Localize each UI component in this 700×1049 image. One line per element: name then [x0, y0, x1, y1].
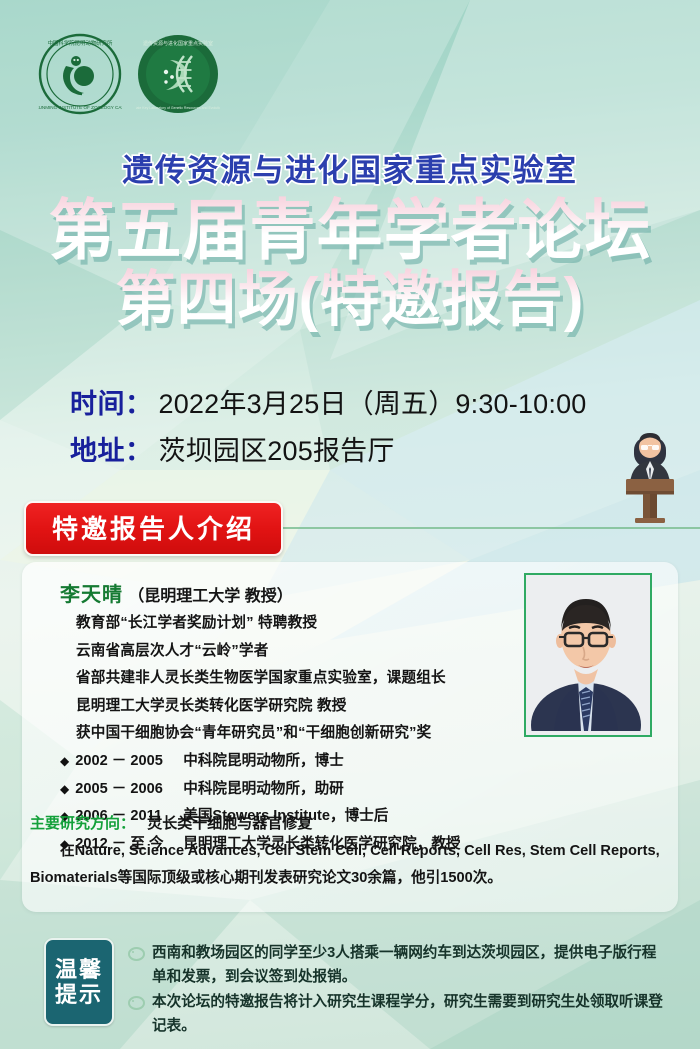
tip-badge-line-2: 提示 — [55, 982, 103, 1007]
research-direction-value: 灵长类干细胞与器官修复 — [147, 815, 312, 832]
speaker-portrait-photo — [524, 573, 652, 737]
svg-text:KUNMING INSTITUTE OF ZOOLOGY C: KUNMING INSTITUTE OF ZOOLOGY CAS — [38, 105, 122, 110]
credential-item: 获中国干细胞协会“青年研究员”和“干细胞创新研究”奖 — [60, 726, 530, 741]
place-label: 地址： — [70, 429, 153, 468]
diamond-bullet-icon: ◆ — [60, 783, 69, 795]
time-label: 时间： — [70, 382, 153, 421]
state-key-lab-logo: 遗传资源与进化国家重点实验室 State Key Laboratory of G… — [136, 32, 220, 116]
timeline-years: 2002 － 2005 — [75, 754, 183, 769]
kunming-institute-of-zoology-logo: 中国科学院昆明动物研究所 KUNMING INSTITUTE OF ZOOLOG… — [38, 32, 122, 116]
publications-paragraph: 在Nature, Science Advances, Cell Stem Cel… — [30, 838, 670, 891]
timeline-years: 2005 － 2006 — [75, 782, 183, 797]
section-banner-label: 特邀报告人介绍 — [24, 501, 283, 556]
svg-text:State Key Laboratory of Geneti: State Key Laboratory of Genetic Resource… — [136, 106, 220, 110]
credential-item: 教育部“长江学者奖励计划” 特聘教授 — [60, 616, 530, 631]
lab-name: 遗传资源与进化国家重点实验室 — [0, 145, 700, 190]
speaker-name: 李天晴 — [60, 584, 123, 606]
speaker-name-row: 李天晴 （昆明理工大学 教授） — [60, 578, 530, 607]
diamond-bullet-icon: ◆ — [60, 755, 69, 767]
place-value: 茨坝园区205报告厅 — [159, 429, 395, 468]
tip-badge-line-1: 温馨 — [55, 957, 103, 982]
credential-item: 昆明理工大学灵长类转化医学研究院 教授 — [60, 699, 530, 714]
logo-group: 中国科学院昆明动物研究所 KUNMING INSTITUTE OF ZOOLOG… — [38, 32, 220, 116]
event-time-row: 时间： 2022年3月25日（周五）9:30-10:00 — [70, 382, 587, 421]
ring-bullet-icon — [128, 947, 145, 961]
notice-list: 西南和教场园区的同学至少3人搭乘一辆网约车到达茨坝园区，提供电子版行程单和发票，… — [128, 938, 664, 1041]
credential-item: 云南省高层次人才“云岭”学者 — [60, 644, 530, 659]
speaker-affiliation: （昆明理工大学 教授） — [128, 588, 292, 605]
timeline-detail: 中科院昆明动物所，助研 — [183, 782, 344, 797]
timeline-item: ◆ 2005 － 2006 中科院昆明动物所，助研 — [60, 782, 530, 797]
credential-item: 省部共建非人灵长类生物医学国家重点实验室，课题组长 — [60, 671, 530, 686]
notice-section: 温馨 提示 西南和教场园区的同学至少3人搭乘一辆网约车到达茨坝园区，提供电子版行… — [44, 938, 664, 1041]
timeline-item: ◆ 2002 － 2005 中科院昆明动物所，博士 — [60, 754, 530, 769]
research-direction: 主要研究方向： 灵长类干细胞与器官修复 — [30, 812, 312, 833]
ring-bullet-icon — [128, 996, 145, 1010]
notice-item-text: 西南和教场园区的同学至少3人搭乘一辆网约车到达茨坝园区，提供电子版行程单和发票，… — [152, 942, 664, 989]
event-meta: 时间： 2022年3月25日（周五）9:30-10:00 地址： 茨坝园区205… — [70, 382, 587, 476]
svg-text:遗传资源与进化国家重点实验室: 遗传资源与进化国家重点实验室 — [143, 40, 213, 47]
notice-item: 西南和教场园区的同学至少3人搭乘一辆网约车到达茨坝园区，提供电子版行程单和发票，… — [128, 942, 664, 989]
notice-item: 本次论坛的特邀报告将计入研究生课程学分，研究生需要到研究生处领取听课登记表。 — [128, 991, 664, 1038]
research-direction-label: 主要研究方向： — [30, 815, 135, 832]
time-value: 2022年3月25日（周五）9:30-10:00 — [159, 382, 587, 421]
section-divider-line — [277, 527, 700, 529]
notice-item-text: 本次论坛的特邀报告将计入研究生课程学分，研究生需要到研究生处领取听课登记表。 — [152, 991, 664, 1038]
poster-root: 中国科学院昆明动物研究所 KUNMING INSTITUTE OF ZOOLOG… — [0, 0, 700, 1049]
title-line-1: 第五届青年学者论坛 — [0, 196, 700, 266]
poster-title: 第五届青年学者论坛 第四场(特邀报告) — [0, 196, 700, 332]
event-place-row: 地址： 茨坝园区205报告厅 — [70, 429, 587, 468]
svg-text:中国科学院昆明动物研究所: 中国科学院昆明动物研究所 — [48, 39, 113, 47]
title-line-2: 第四场(特邀报告) — [0, 268, 700, 332]
section-banner: 特邀报告人介绍 — [24, 507, 700, 549]
timeline-detail: 中科院昆明动物所，博士 — [183, 754, 344, 769]
tip-badge: 温馨 提示 — [44, 938, 114, 1026]
